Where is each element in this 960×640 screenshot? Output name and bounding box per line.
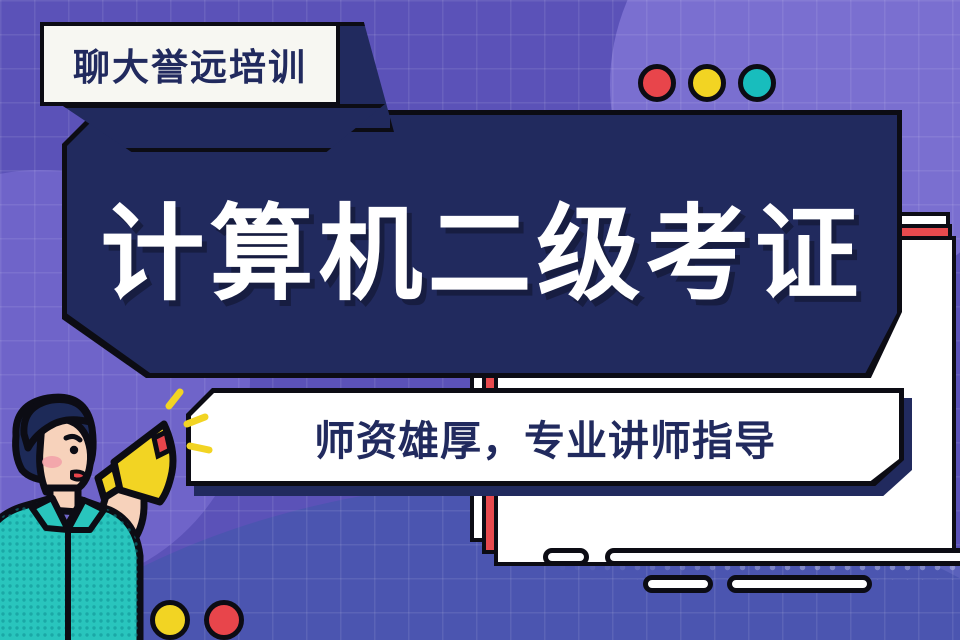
brand-logo-box: 聊大誉远培训: [40, 22, 340, 106]
dot-red: [638, 64, 676, 102]
dot-teal: [738, 64, 776, 102]
dot-yellow: [688, 64, 726, 102]
mascot-mouth: [72, 472, 86, 480]
subtitle-banner: 师资雄厚，专业讲师指导: [191, 393, 899, 481]
pill-bar-2: [605, 548, 960, 566]
pill-bar-1: [543, 548, 589, 566]
brand-logo-text: 聊大誉远培训: [73, 37, 307, 91]
pill-bar-3: [643, 575, 713, 593]
subtitle-text: 师资雄厚，专业讲师指导: [314, 407, 776, 467]
megaphone-sound-rays: [169, 392, 209, 450]
woman-with-megaphone-illustration: [0, 388, 234, 640]
mascot-cheek-blush: [42, 456, 62, 468]
megaphone-button: [154, 432, 170, 456]
mascot-eye: [70, 446, 78, 454]
pill-bar-4: [727, 575, 872, 593]
promo-poster: 计算机二级考证 聊大誉远培训 师资雄厚，专业讲师指导: [0, 0, 960, 640]
